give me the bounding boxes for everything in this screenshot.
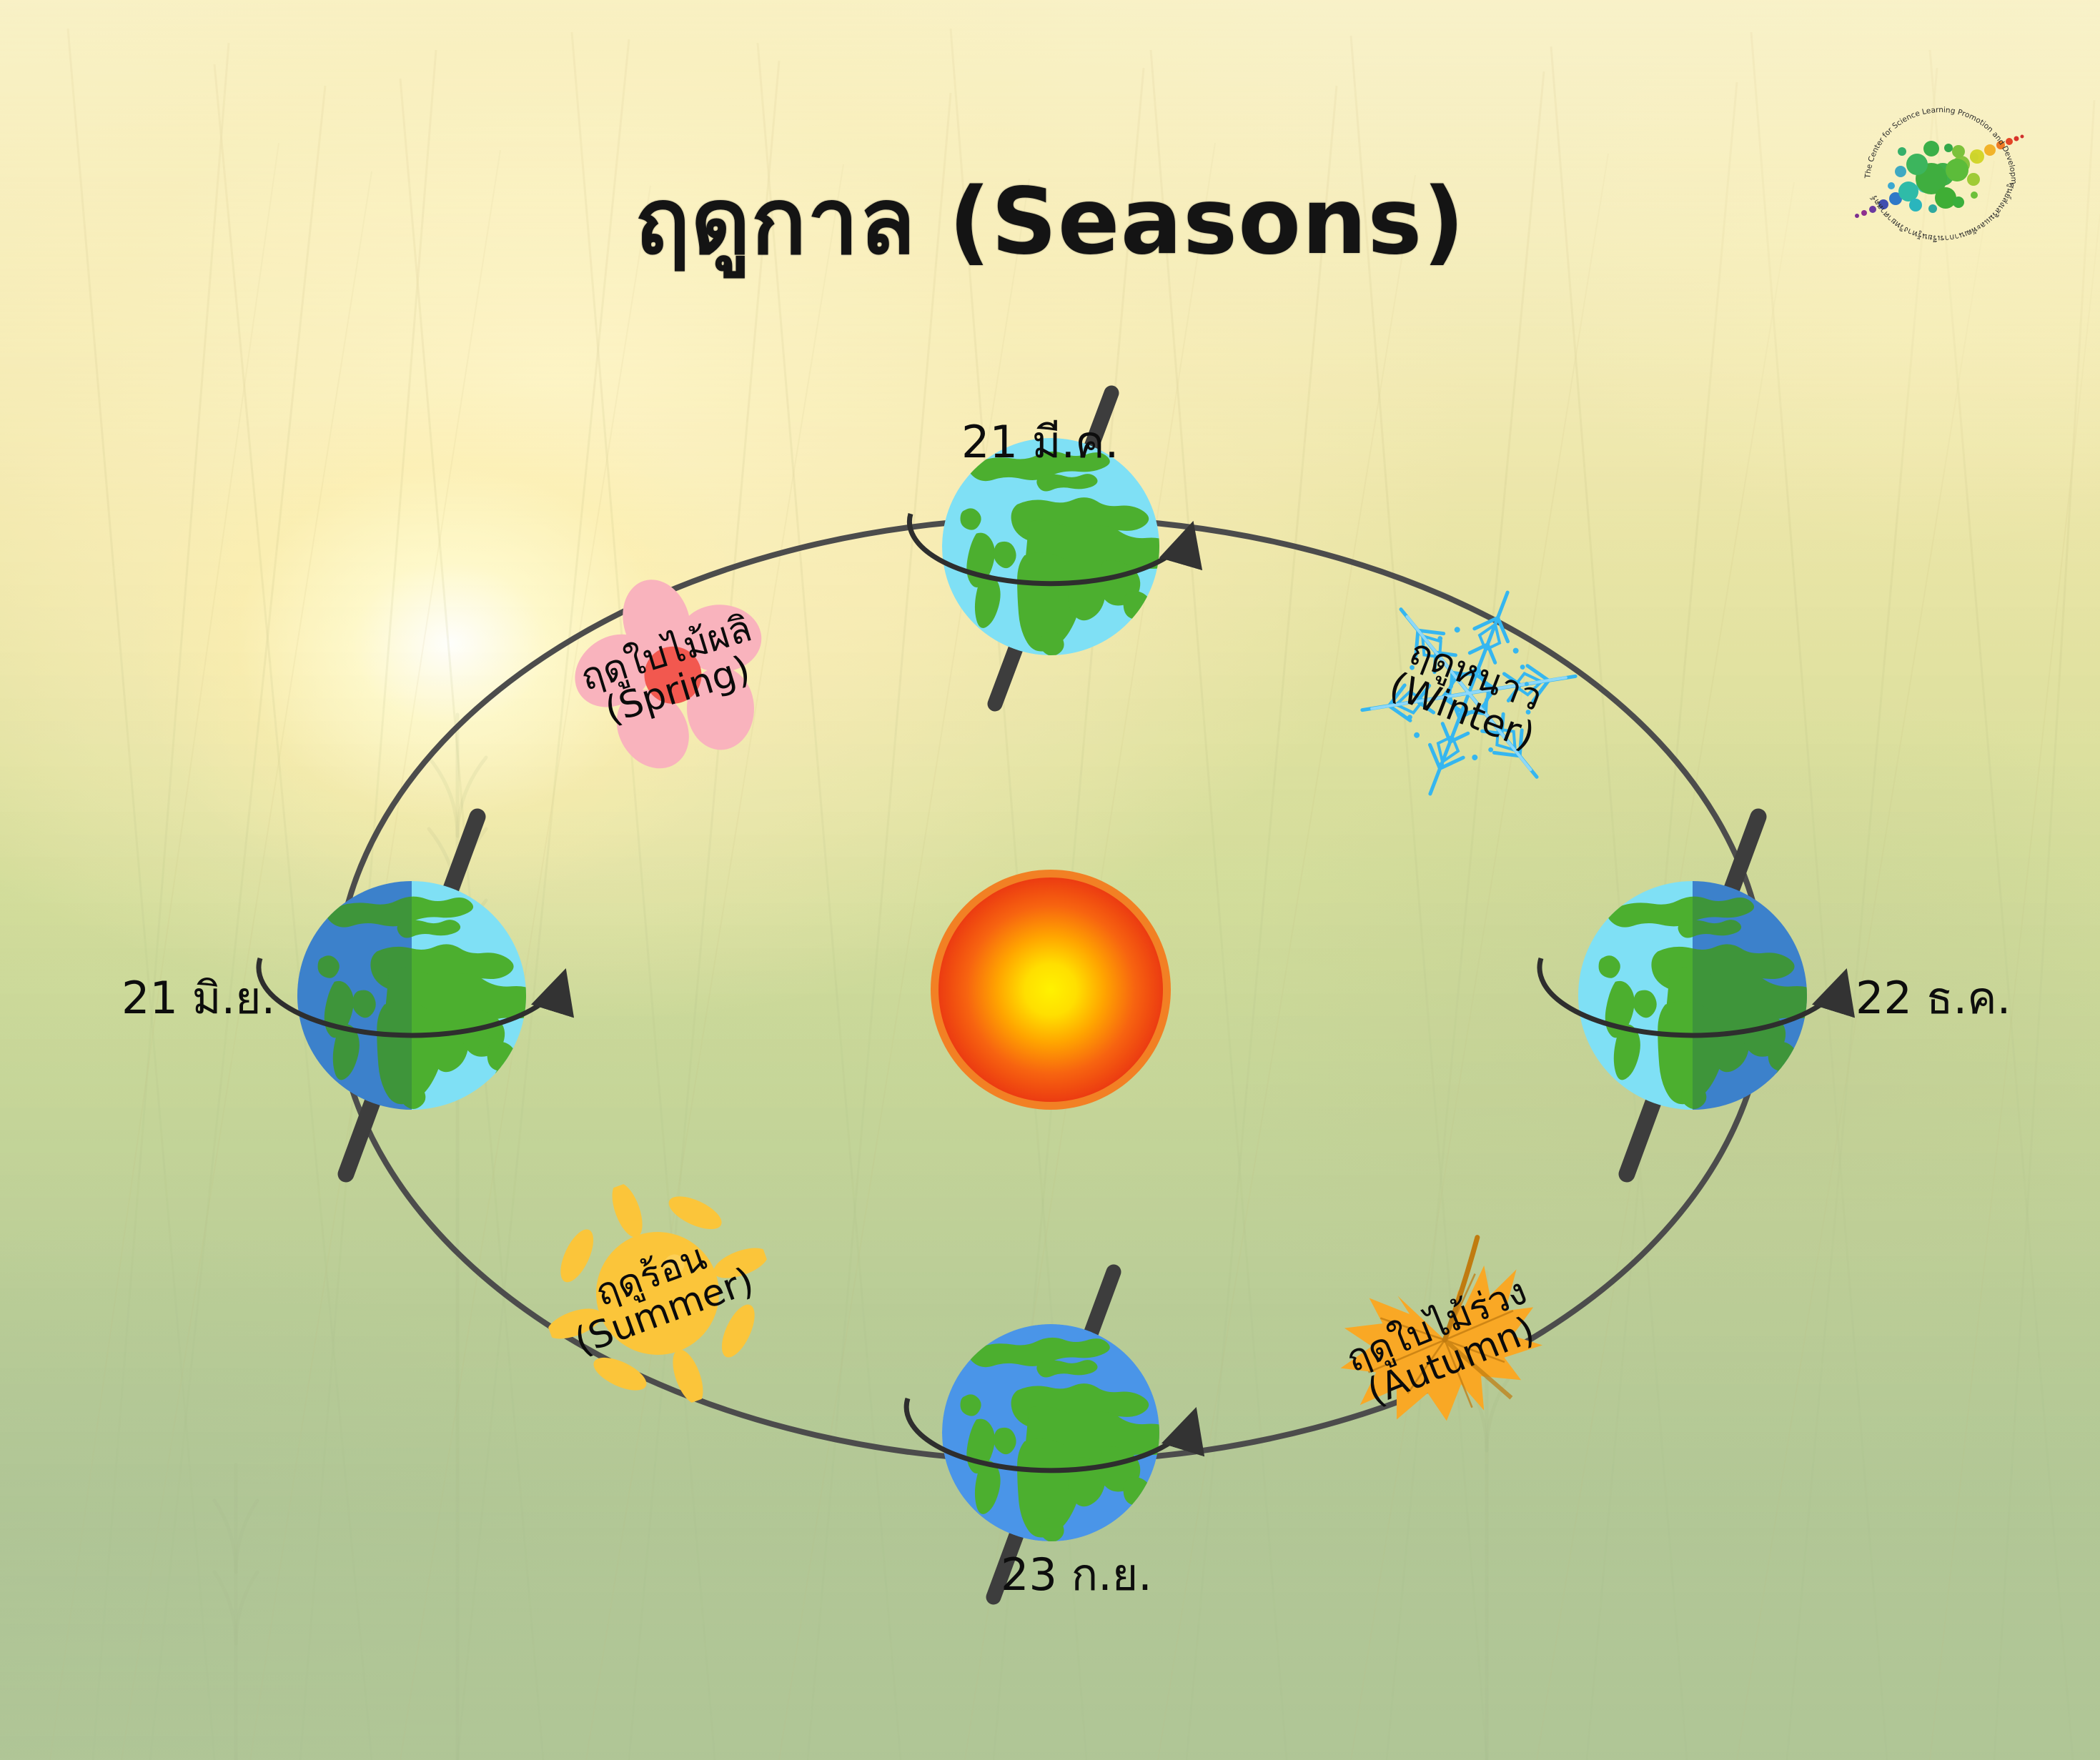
flower-icon — [539, 541, 805, 802]
seasons-infographic: ฤดูกาล (Seasons) — [0, 0, 2100, 1760]
date-label-march: 21 มี.ค. — [961, 407, 1119, 477]
date-label-june: 21 มิ.ย. — [122, 963, 275, 1033]
date-label-september: 23 ก.ย. — [1001, 1540, 1152, 1610]
earth-june — [259, 817, 563, 1174]
orbit-scene — [0, 0, 2100, 1760]
date-label-december: 22 ธ.ค. — [1856, 963, 2011, 1033]
earth-december — [1540, 817, 1844, 1174]
sun — [931, 870, 1171, 1110]
